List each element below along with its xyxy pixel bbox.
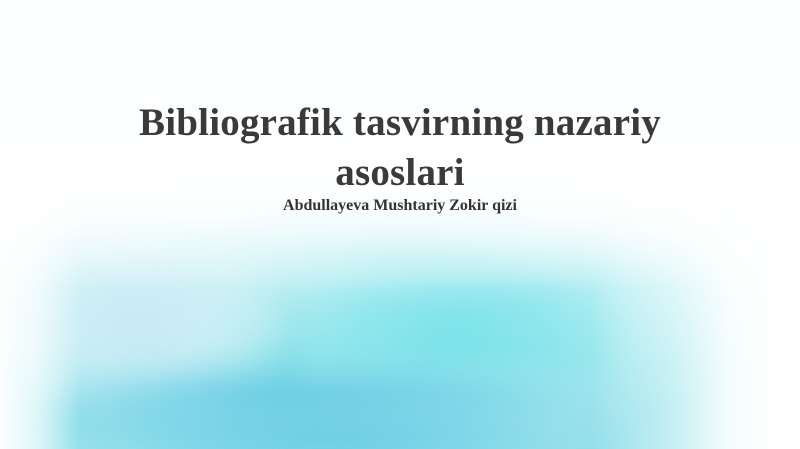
slide-text-layer: Bibliografik tasvirning nazariy asoslari… (0, 0, 800, 449)
title-slide: Bibliografik tasvirning nazariy asoslari… (0, 0, 800, 449)
slide-title: Bibliografik tasvirning nazariy asoslari (70, 98, 730, 198)
slide-subtitle-author: Abdullayeva Mushtariy Zokir qizi (70, 196, 730, 216)
